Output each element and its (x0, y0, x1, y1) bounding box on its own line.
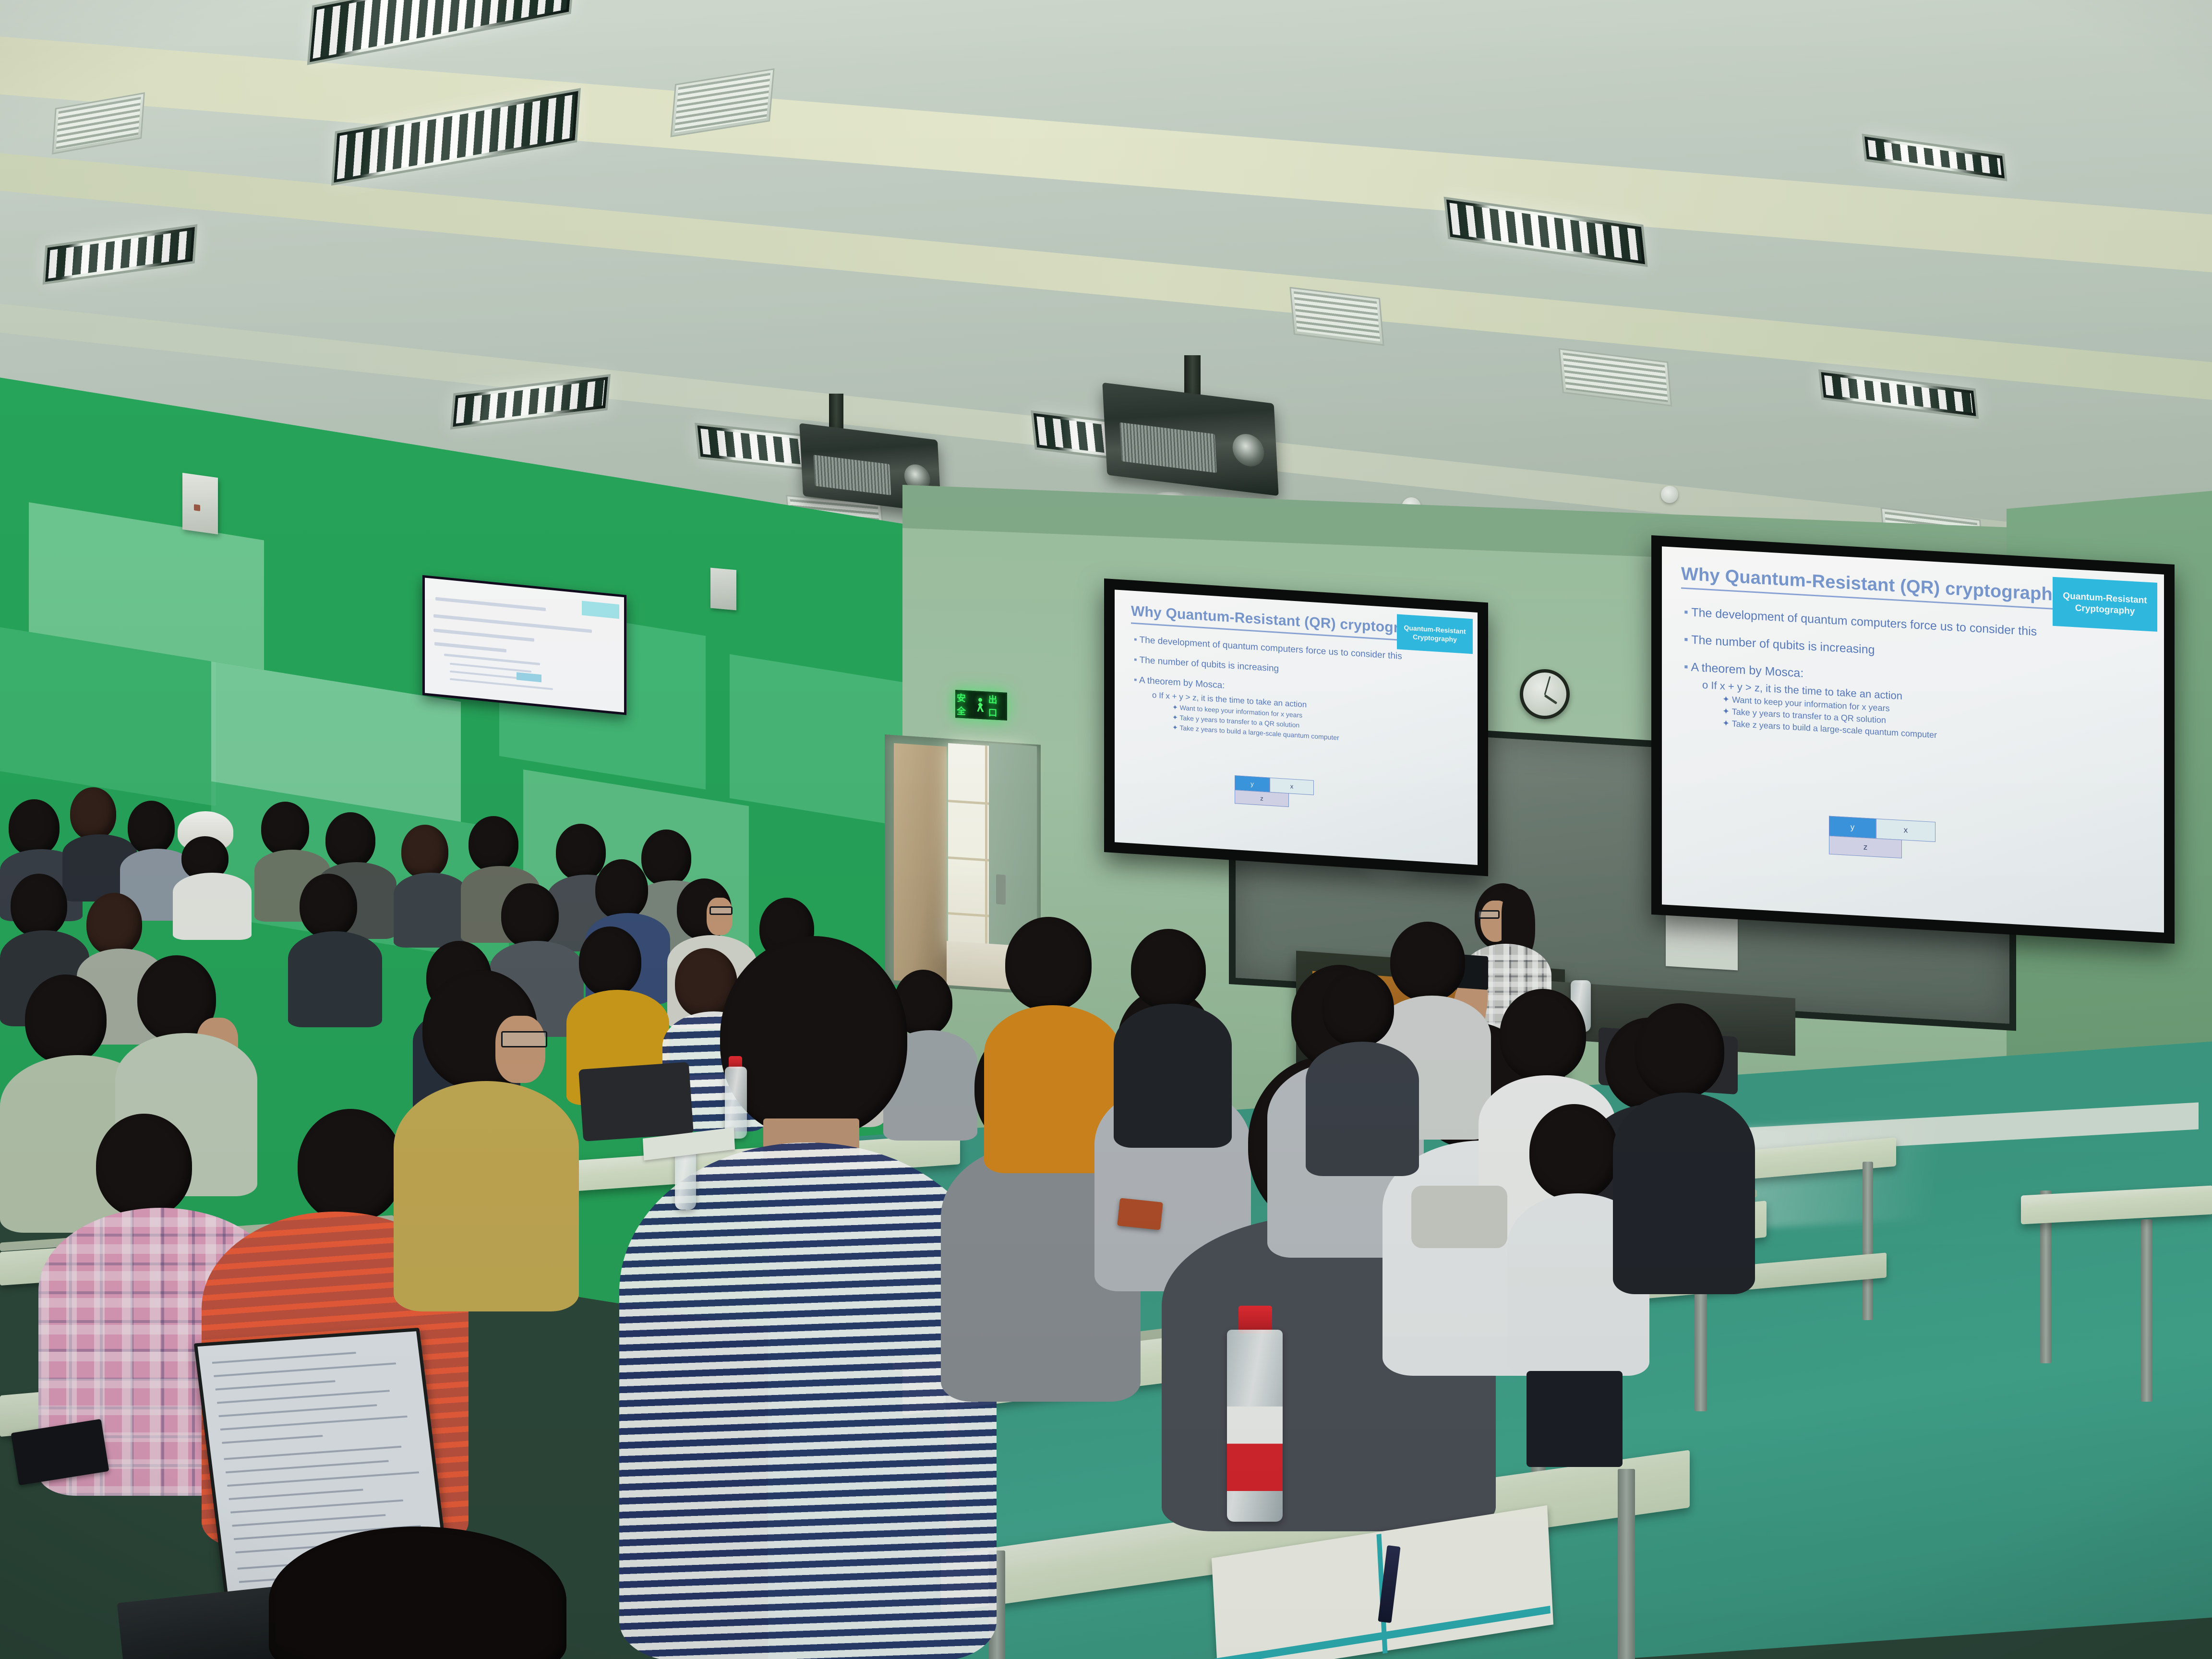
glasses-icon (501, 1031, 547, 1047)
backpack (578, 1062, 694, 1142)
projector-lens-icon (1232, 432, 1265, 468)
timeline-cell-y: y (1829, 816, 1876, 839)
audience-member (1114, 929, 1234, 1140)
wall-speaker (182, 473, 218, 534)
projection-screen-left[interactable]: Why Quantum-Resistant (QR) cryptography?… (1104, 578, 1488, 876)
slide-badge: Quantum-Resistant Cryptography (1397, 614, 1473, 654)
chair-frame (2141, 1219, 2152, 1402)
water-bottle (675, 1147, 696, 1210)
exit-sign: 安全 出口 (955, 690, 1007, 721)
desk-leg (1863, 1162, 1873, 1320)
glasses-icon (1478, 910, 1500, 919)
projector-vent (813, 455, 891, 495)
audience-member-glasses (394, 970, 581, 1306)
running-person-icon (976, 697, 986, 713)
slide-right: Why Quantum-Resistant (QR) cryptography?… (1662, 546, 2164, 932)
slide-left: Why Quantum-Resistant (QR) cryptography?… (1115, 589, 1478, 865)
lecture-hall-photo: 安全 出口 Why Quantum-Resistant (QR) cryptog… (0, 0, 2212, 1659)
audience-member-foreground (269, 1527, 576, 1659)
wall-monitor-figure (517, 672, 541, 682)
torso (1613, 1093, 1755, 1294)
torso (1114, 1004, 1232, 1148)
face (495, 1016, 545, 1083)
legs (1527, 1371, 1623, 1467)
audience-member (1613, 1003, 1757, 1301)
projector-vent (1119, 422, 1217, 473)
door-handle[interactable] (996, 874, 1006, 904)
glasses-icon (709, 906, 733, 915)
torso (1306, 1042, 1419, 1176)
slide-bullets: The development of quantum computers for… (1131, 635, 1463, 750)
mosca-timeline-figure: y x z (1235, 775, 1314, 808)
torso-striped-navy (619, 1142, 997, 1659)
wall-monitor-badge (582, 601, 619, 619)
torso (288, 931, 382, 1027)
desk-leg (1618, 1469, 1635, 1659)
torso (394, 873, 469, 948)
wall-monitor-screen (425, 577, 624, 712)
wall-clock (1520, 669, 1570, 719)
slide-badge: Quantum-Resistant Cryptography (2053, 577, 2157, 632)
wall-speaker (710, 568, 736, 611)
torso (173, 873, 252, 940)
board-paper-sheet (1666, 913, 1738, 971)
audience-member (1306, 970, 1421, 1171)
exit-sign-label-right: 出口 (988, 693, 1006, 720)
audience-member-with-cap (173, 811, 254, 922)
audience-member (288, 874, 384, 1018)
timeline-cell-z: z (1829, 836, 1902, 858)
smoke-detector-icon (1661, 486, 1678, 503)
audience-member (394, 825, 470, 940)
wall-monitor[interactable] (422, 575, 626, 715)
exit-sign-label-left: 安全 (957, 691, 974, 718)
backpack (1411, 1186, 1507, 1248)
smartphone[interactable] (1117, 1198, 1163, 1230)
torso (394, 1081, 579, 1311)
bottle-label (1227, 1407, 1283, 1491)
timeline-cell-z: z (1235, 790, 1289, 807)
projection-screen-right[interactable]: Why Quantum-Resistant (QR) cryptography?… (1651, 535, 2175, 944)
mosca-timeline-figure: y x z (1829, 816, 1935, 860)
face (707, 898, 733, 935)
